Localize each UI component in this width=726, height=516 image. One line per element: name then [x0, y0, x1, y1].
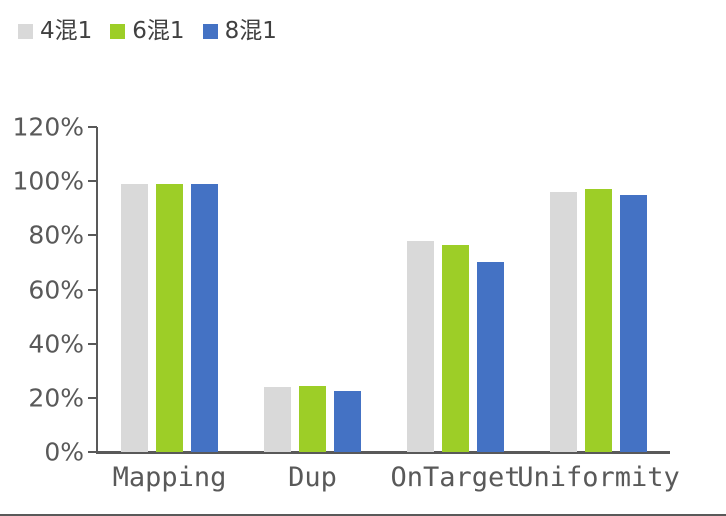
y-tick-label: 60%: [6, 275, 84, 304]
bar-dup-series-1: [299, 386, 326, 452]
bars-layer: [98, 0, 670, 516]
bar-dup-series-0: [264, 387, 291, 452]
y-tick-mark: [88, 289, 97, 291]
bar-ontarget-series-1: [442, 245, 469, 452]
y-tick-label: 80%: [6, 221, 84, 250]
y-tick-label: 100%: [6, 167, 84, 196]
y-tick-label: 40%: [6, 329, 84, 358]
y-tick-mark: [88, 126, 97, 128]
bar-dup-series-2: [334, 391, 361, 452]
bar-mapping-series-0: [121, 184, 148, 452]
x-tick-label-dup: Dup: [288, 462, 337, 493]
y-tick-label: 20%: [6, 383, 84, 412]
x-tick-label-uniformity: Uniformity: [517, 462, 680, 493]
x-tick-label-ontarget: OnTarget: [390, 462, 520, 493]
y-tick-mark: [88, 343, 97, 345]
bar-uniformity-series-2: [620, 195, 647, 452]
bar-mapping-series-2: [191, 184, 218, 452]
bar-uniformity-series-0: [550, 192, 577, 452]
bar-mapping-series-1: [156, 184, 183, 452]
bar-chart: 4混1 6混1 8混1 120%100%80%60%40%20%0% Mappi…: [0, 0, 726, 516]
y-tick-label: 0%: [6, 438, 84, 467]
y-tick-mark: [88, 451, 97, 453]
y-tick-label: 120%: [6, 113, 84, 142]
y-tick-mark: [88, 234, 97, 236]
bar-ontarget-series-2: [477, 262, 504, 452]
y-tick-mark: [88, 397, 97, 399]
plot-area: 120%100%80%60%40%20%0% MappingDupOnTarge…: [0, 0, 726, 516]
x-tick-label-mapping: Mapping: [113, 462, 227, 493]
bar-uniformity-series-1: [585, 189, 612, 452]
x-axis-labels: MappingDupOnTargetUniformity: [98, 462, 670, 506]
bar-ontarget-series-0: [407, 241, 434, 452]
y-axis-labels: 120%100%80%60%40%20%0%: [0, 0, 84, 516]
y-tick-mark: [88, 180, 97, 182]
